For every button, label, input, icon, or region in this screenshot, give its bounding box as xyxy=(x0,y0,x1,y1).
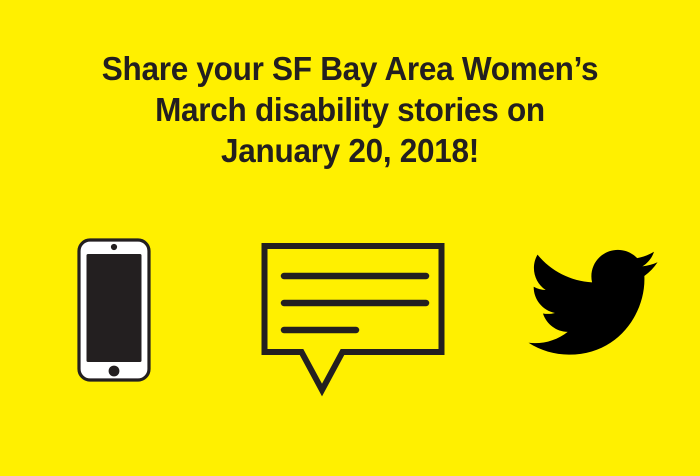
headline-line-2: March disability stories on xyxy=(16,89,685,130)
twitter-bird-icon xyxy=(528,232,658,372)
page-title: Share your SF Bay Area Women’s March dis… xyxy=(0,48,700,171)
speech-bubble-icon xyxy=(252,232,454,397)
headline-line-1: Share your SF Bay Area Women’s xyxy=(16,48,685,89)
icon-row xyxy=(0,232,700,402)
poster-canvas: Share your SF Bay Area Women’s March dis… xyxy=(0,0,700,476)
smartphone-icon xyxy=(68,232,160,392)
headline-line-3: January 20, 2018! xyxy=(16,130,685,171)
